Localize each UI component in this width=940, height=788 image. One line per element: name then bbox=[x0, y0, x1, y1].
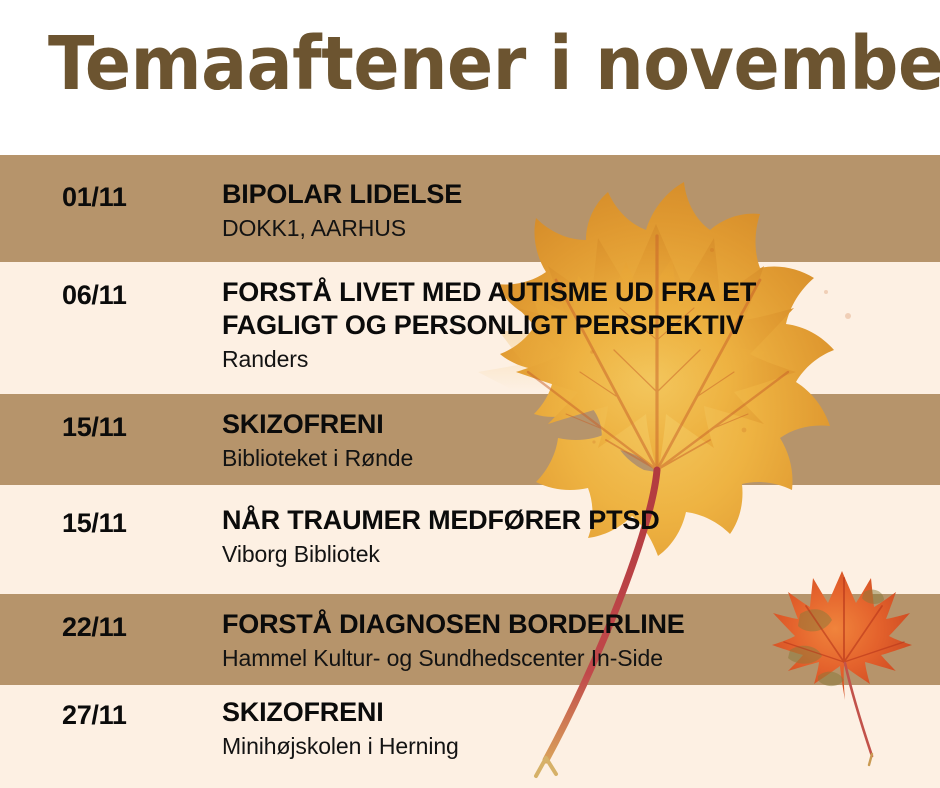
event-title: SKIZOFRENI bbox=[222, 696, 930, 729]
event-title: FORSTÅ DIAGNOSEN BORDERLINE bbox=[222, 608, 930, 641]
event-details: NÅR TRAUMER MEDFØRER PTSDViborg Bibliote… bbox=[222, 504, 930, 569]
event-row: 15/11NÅR TRAUMER MEDFØRER PTSDViborg Bib… bbox=[0, 485, 940, 594]
event-title: NÅR TRAUMER MEDFØRER PTSD bbox=[222, 504, 930, 537]
event-date: 22/11 bbox=[62, 612, 127, 643]
event-title: BIPOLAR LIDELSE bbox=[222, 178, 930, 211]
event-venue: Biblioteket i Rønde bbox=[222, 444, 930, 473]
event-date: 15/11 bbox=[62, 412, 127, 443]
event-date: 27/11 bbox=[62, 700, 127, 731]
event-venue: Viborg Bibliotek bbox=[222, 540, 930, 569]
event-date: 06/11 bbox=[62, 280, 127, 311]
poster-header: Temaaftener i november bbox=[0, 0, 940, 155]
event-row: 01/11BIPOLAR LIDELSEDOKK1, AARHUS bbox=[0, 155, 940, 262]
event-row: 27/11SKIZOFRENIMinihøjskolen i Herning bbox=[0, 685, 940, 788]
event-poster: Temaaftener i november 01/11BIPOLAR LIDE… bbox=[0, 0, 940, 788]
event-venue: Minihøjskolen i Herning bbox=[222, 732, 930, 761]
event-details: FORSTÅ DIAGNOSEN BORDERLINEHammel Kultur… bbox=[222, 608, 930, 673]
event-venue: Randers bbox=[222, 345, 930, 374]
page-title: Temaaftener i november bbox=[48, 26, 940, 104]
event-row: 15/11SKIZOFRENIBiblioteket i Rønde bbox=[0, 394, 940, 485]
event-details: SKIZOFRENIMinihøjskolen i Herning bbox=[222, 696, 930, 761]
event-row: 06/11FORSTÅ LIVET MED AUTISME UD FRA ET … bbox=[0, 262, 940, 394]
event-details: BIPOLAR LIDELSEDOKK1, AARHUS bbox=[222, 178, 930, 243]
event-title: SKIZOFRENI bbox=[222, 408, 930, 441]
event-details: FORSTÅ LIVET MED AUTISME UD FRA ET FAGLI… bbox=[222, 276, 930, 374]
event-row: 22/11FORSTÅ DIAGNOSEN BORDERLINEHammel K… bbox=[0, 594, 940, 685]
event-details: SKIZOFRENIBiblioteket i Rønde bbox=[222, 408, 930, 473]
event-date: 15/11 bbox=[62, 508, 127, 539]
event-venue: Hammel Kultur- og Sundhedscenter In-Side bbox=[222, 644, 930, 673]
event-venue: DOKK1, AARHUS bbox=[222, 214, 930, 243]
event-date: 01/11 bbox=[62, 182, 127, 213]
event-title: FORSTÅ LIVET MED AUTISME UD FRA ET FAGLI… bbox=[222, 276, 930, 342]
